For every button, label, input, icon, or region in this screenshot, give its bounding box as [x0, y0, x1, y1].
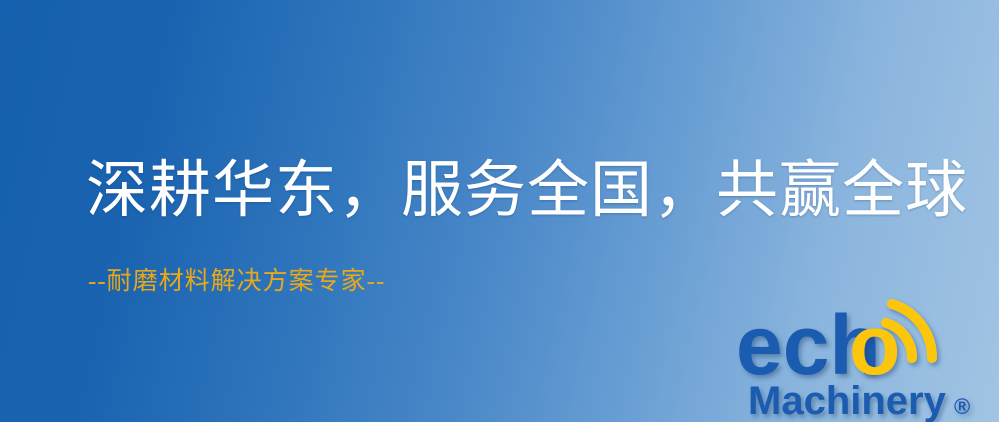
hero-banner: 深耕华东，服务全国，共赢全球 --耐磨材料解决方案专家-- ech o Mach…	[0, 0, 999, 422]
logo-wordmark-o: o	[849, 298, 900, 392]
logo-tagline: Machinery	[748, 379, 947, 422]
registered-trademark-icon: ®	[954, 394, 970, 419]
echo-machinery-logo[interactable]: ech o Machinery ®	[736, 292, 999, 422]
page-subtitle: --耐磨材料解决方案专家--	[88, 266, 385, 298]
page-title: 深耕华东，服务全国，共赢全球	[86, 153, 968, 229]
